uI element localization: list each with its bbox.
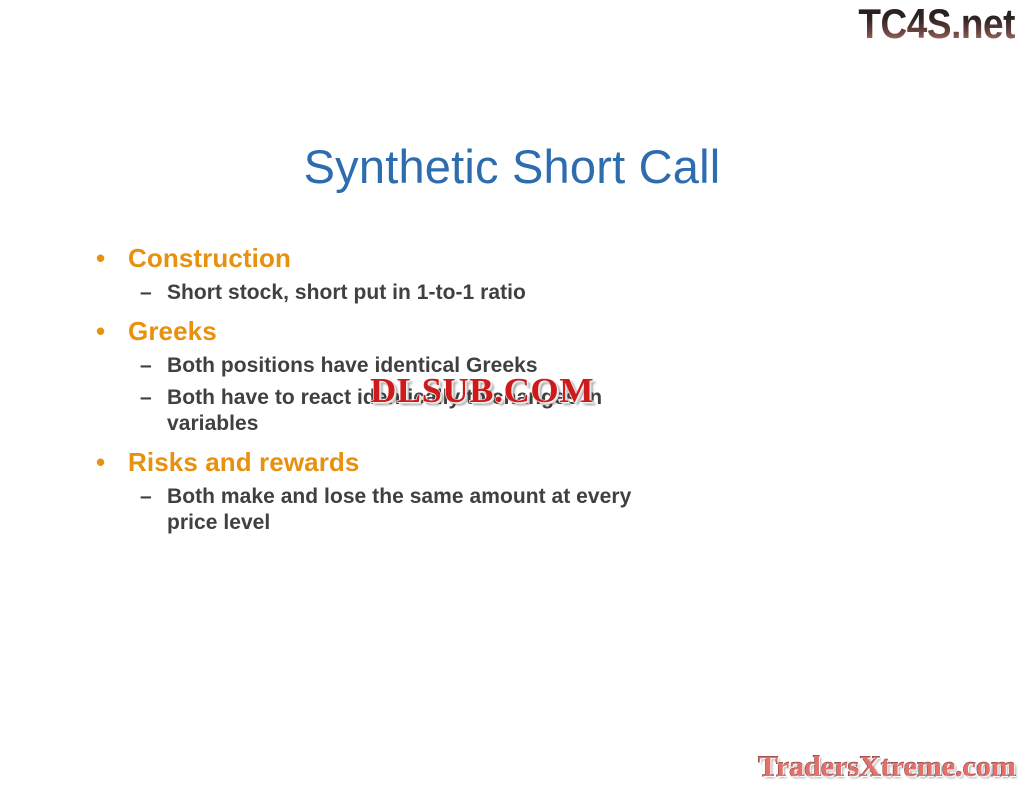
bullet-dot-icon: • bbox=[96, 447, 105, 478]
dash-bullet-icon: – bbox=[140, 385, 152, 411]
bullet-dot-icon: • bbox=[96, 243, 105, 274]
tradersxtreme-watermark: TradersXtreme.com bbox=[758, 751, 1016, 783]
bullet-heading-risks-and-rewards: • Risks and rewards bbox=[88, 447, 728, 478]
dlsub-watermark: DLSUB.COM bbox=[370, 372, 594, 410]
bullet-heading-label: Construction bbox=[128, 243, 291, 273]
bullet-heading-label: Greeks bbox=[128, 316, 217, 346]
bullet-dot-icon: • bbox=[96, 316, 105, 347]
bullet-heading-greeks: • Greeks bbox=[88, 316, 728, 347]
dash-bullet-icon: – bbox=[140, 353, 152, 379]
sub-bullet-item: – Short stock, short put in 1-to-1 ratio bbox=[88, 280, 728, 306]
dash-bullet-icon: – bbox=[140, 484, 152, 510]
tc4s-logo: TC4S.net bbox=[858, 2, 1015, 46]
dash-bullet-icon: – bbox=[140, 280, 152, 306]
bullet-heading-label: Risks and rewards bbox=[128, 447, 359, 477]
page-title: Synthetic Short Call bbox=[0, 139, 1024, 194]
bullet-heading-construction: • Construction bbox=[88, 243, 728, 274]
slide-canvas: TC4S.net Synthetic Short Call • Construc… bbox=[0, 0, 1024, 791]
sub-bullet-label: Short stock, short put in 1-to-1 ratio bbox=[167, 280, 647, 306]
sub-bullet-label: Both make and lose the same amount at ev… bbox=[167, 484, 647, 536]
sub-bullet-item: – Both make and lose the same amount at … bbox=[88, 484, 728, 536]
